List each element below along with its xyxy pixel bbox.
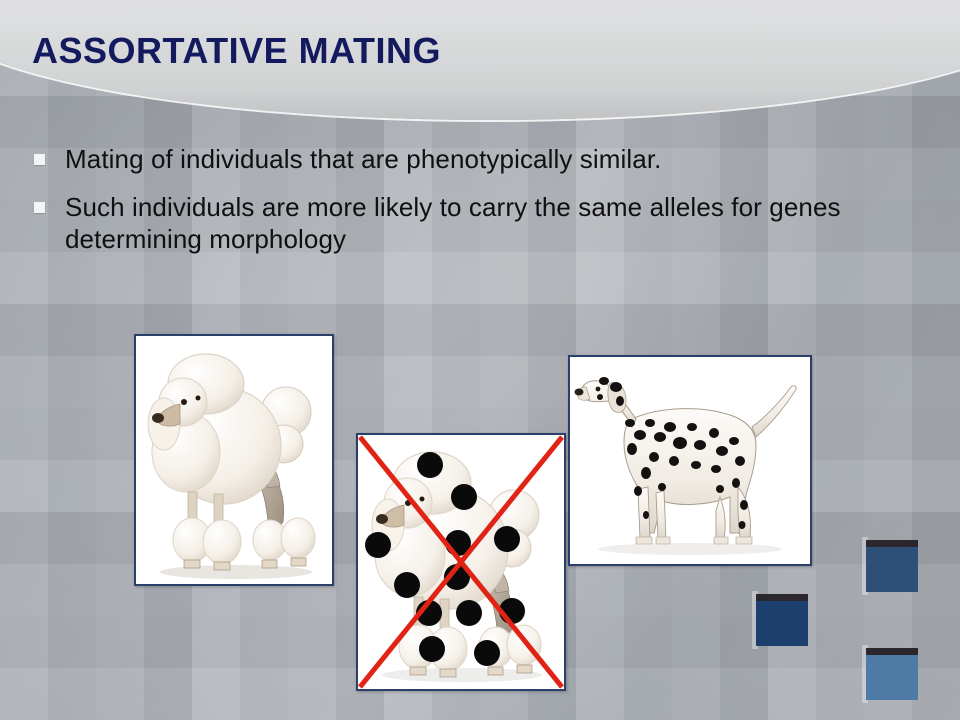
image-frame-spotted-poodle bbox=[356, 433, 566, 691]
page-title: ASSORTATIVE MATING bbox=[32, 30, 441, 72]
accent-square-navy bbox=[756, 594, 808, 646]
accent-square-fill bbox=[756, 601, 808, 646]
list-item: Such individuals are more likely to carr… bbox=[34, 191, 924, 255]
square-bullet-icon bbox=[34, 154, 45, 165]
image-frame-dalmatian bbox=[568, 355, 812, 566]
spotted-poodle-illustration bbox=[358, 435, 564, 689]
accent-square-fill bbox=[866, 547, 918, 592]
accent-square-light-blue bbox=[866, 648, 918, 700]
white-poodle-illustration bbox=[136, 336, 332, 584]
bullet-list: Mating of individuals that are phenotypi… bbox=[34, 143, 924, 272]
bullet-text: Mating of individuals that are phenotypi… bbox=[65, 143, 661, 175]
image-frame-poodle bbox=[134, 334, 334, 586]
square-bullet-icon bbox=[34, 202, 45, 213]
list-item: Mating of individuals that are phenotypi… bbox=[34, 143, 924, 175]
accent-square-shadow-cap bbox=[866, 648, 918, 655]
dalmatian-illustration bbox=[570, 357, 810, 564]
accent-square-shadow-cap bbox=[756, 594, 808, 601]
bullet-text: Such individuals are more likely to carr… bbox=[65, 191, 924, 255]
slide-canvas: ASSORTATIVE MATING Mating of individuals… bbox=[0, 0, 960, 720]
accent-square-fill bbox=[866, 655, 918, 700]
accent-square-shadow-cap bbox=[866, 540, 918, 547]
accent-square-steel-blue bbox=[866, 540, 918, 592]
